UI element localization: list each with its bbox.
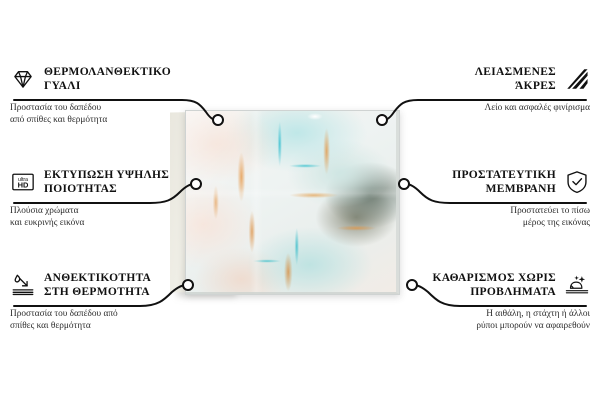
flame-surface-icon bbox=[10, 272, 36, 298]
svg-text:HD: HD bbox=[18, 180, 29, 189]
diamond-icon bbox=[10, 66, 36, 92]
connector-dot-left-1 bbox=[213, 115, 223, 125]
connector-dot-right-2 bbox=[399, 179, 409, 189]
feature-protective-membrane: ΠΡΟΣΤΑΤΕΥΤΙΚΗ ΜΕΜΒΡΑΝΗ Προστατεύει το πί… bbox=[414, 165, 590, 229]
feature-description: Η αιθάλη, η στάχτη ή άλλοι ρύποι μπορούν… bbox=[414, 308, 590, 332]
feature-description: Πλούσια χρώματα και ευκρινής εικόνα bbox=[10, 205, 186, 229]
feature-title: ΑΝΘΕΚΤΙΚΟΤΗΤΑ ΣΤΗ ΘΕΡΜΟΤΗΤΑ bbox=[44, 271, 151, 299]
connector-dot-left-2 bbox=[191, 179, 201, 189]
feature-title: ΚΑΘΑΡΙΣΜΟΣ ΧΩΡΙΣ ΠΡΟΒΛΗΜΑΤΑ bbox=[432, 271, 556, 299]
feature-easy-cleaning: ΚΑΘΑΡΙΣΜΟΣ ΧΩΡΙΣ ΠΡΟΒΛΗΜΑΤΑ Η αιθάλη, η … bbox=[414, 268, 590, 332]
connector-dot-right-1 bbox=[377, 115, 387, 125]
feature-header: ΘΕΡΜΟΛΑΝΘΕΚΤΙΚΟ ΓΥΑΛΙ bbox=[10, 62, 186, 96]
feature-description: Προστατεύει το πίσω μέρος της εικόνας bbox=[414, 205, 590, 229]
shield-check-icon bbox=[564, 169, 590, 195]
diagonal-stripes-icon bbox=[564, 66, 590, 92]
feature-header: ΑΝΘΕΚΤΙΚΟΤΗΤΑ ΣΤΗ ΘΕΡΜΟΤΗΤΑ bbox=[10, 268, 186, 302]
feature-title: ΛΕΙΑΣΜΕΝΕΣ ΆΚΡΕΣ bbox=[475, 65, 556, 93]
sponge-sparkle-icon bbox=[564, 272, 590, 298]
infographic-stage: ΘΕΡΜΟΛΑΝΘΕΚΤΙΚΟ ΓΥΑΛΙ Προστασία του δαπέ… bbox=[0, 0, 600, 400]
feature-title: ΘΕΡΜΟΛΑΝΘΕΚΤΙΚΟ ΓΥΑΛΙ bbox=[44, 65, 171, 93]
ultra-hd-icon: ultra HD bbox=[10, 169, 36, 195]
feature-high-quality-print: ultra HD ΕΚΤΥΠΩΣΗ ΥΨΗΛΗΣ ΠΟΙΟΤΗΤΑΣ Πλούσ… bbox=[10, 165, 186, 229]
feature-title: ΕΚΤΥΠΩΣΗ ΥΨΗΛΗΣ ΠΟΙΟΤΗΤΑΣ bbox=[44, 168, 169, 196]
feature-smoothed-edges: ΛΕΙΑΣΜΕΝΕΣ ΆΚΡΕΣ Λείο και ασφαλές φινίρι… bbox=[414, 62, 590, 114]
feature-header: ultra HD ΕΚΤΥΠΩΣΗ ΥΨΗΛΗΣ ΠΟΙΟΤΗΤΑΣ bbox=[10, 165, 186, 199]
feature-description: Προστασία του δαπέδου από σπίθες και θερ… bbox=[10, 308, 186, 332]
feature-heat-durability: ΑΝΘΕΚΤΙΚΟΤΗΤΑ ΣΤΗ ΘΕΡΜΟΤΗΤΑ Προστασία το… bbox=[10, 268, 186, 332]
feature-header: ΠΡΟΣΤΑΤΕΥΤΙΚΗ ΜΕΜΒΡΑΝΗ bbox=[414, 165, 590, 199]
feature-header: ΛΕΙΑΣΜΕΝΕΣ ΆΚΡΕΣ bbox=[414, 62, 590, 96]
feature-header: ΚΑΘΑΡΙΣΜΟΣ ΧΩΡΙΣ ΠΡΟΒΛΗΜΑΤΑ bbox=[414, 268, 590, 302]
feature-heat-resistant-glass: ΘΕΡΜΟΛΑΝΘΕΚΤΙΚΟ ΓΥΑΛΙ Προστασία του δαπέ… bbox=[10, 62, 186, 126]
feature-description: Λείο και ασφαλές φινίρισμα bbox=[414, 102, 590, 114]
feature-title: ΠΡΟΣΤΑΤΕΥΤΙΚΗ ΜΕΜΒΡΑΝΗ bbox=[452, 168, 556, 196]
feature-description: Προστασία του δαπέδου από σπίθες και θερ… bbox=[10, 102, 186, 126]
